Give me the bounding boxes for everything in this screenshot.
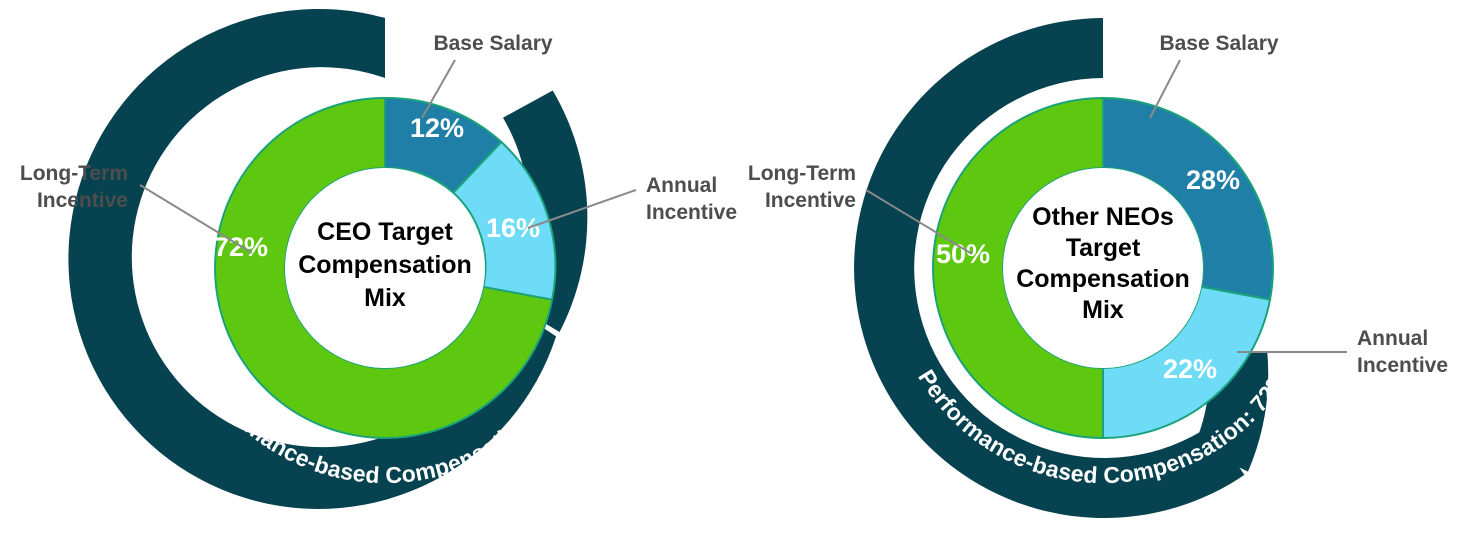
ceo-annual-incentive-percent: 16%	[486, 213, 540, 243]
ceo-center-title-line-2: Compensation	[298, 251, 472, 279]
ceo-callout-long-term-incentive-line-2: Incentive	[37, 189, 128, 212]
compensation-mix-figure: 12% 16% 72% CEO Target Compensation Mix …	[0, 0, 1469, 537]
ceo-center-title-line-3: Mix	[364, 284, 406, 312]
neo-callout-long-term-incentive-line-2: Incentive	[765, 189, 856, 212]
neo-long-term-incentive-percent: 50%	[936, 239, 990, 269]
ceo-center-title-line-1: CEO Target	[317, 218, 453, 246]
ceo-callout-base-salary: Base Salary	[433, 32, 552, 55]
neo-center-title-line-1: Other NEOs	[1032, 203, 1174, 231]
neo-callout-long-term-incentive-line-1: Long-Term	[748, 162, 856, 185]
neo-center-title-line-4: Mix	[1082, 296, 1124, 324]
ceo-callout-long-term-incentive-line-1: Long-Term	[20, 162, 128, 185]
neo-callout-base-salary: Base Salary	[1159, 32, 1278, 55]
neo-chart-group: 28% 22% 50% Other NEOs Target Compensati…	[748, 18, 1448, 518]
neo-center-title-line-3: Compensation	[1016, 265, 1190, 293]
ceo-chart-group: 12% 16% 72% CEO Target Compensation Mix …	[20, 9, 737, 509]
neo-center-title-line-2: Target	[1066, 234, 1141, 262]
ceo-callout-annual-incentive-line-1: Annual	[646, 174, 717, 197]
ceo-base-salary-percent: 12%	[410, 113, 464, 143]
neo-callout-annual-incentive-line-2: Incentive	[1357, 354, 1448, 377]
dual-donut-chart-canvas: 12% 16% 72% CEO Target Compensation Mix …	[0, 0, 1469, 537]
neo-base-salary-percent: 28%	[1186, 165, 1240, 195]
neo-annual-incentive-percent: 22%	[1163, 354, 1217, 384]
neo-callout-annual-incentive-line-1: Annual	[1357, 327, 1428, 350]
ceo-callout-annual-incentive-line-2: Incentive	[646, 201, 737, 224]
